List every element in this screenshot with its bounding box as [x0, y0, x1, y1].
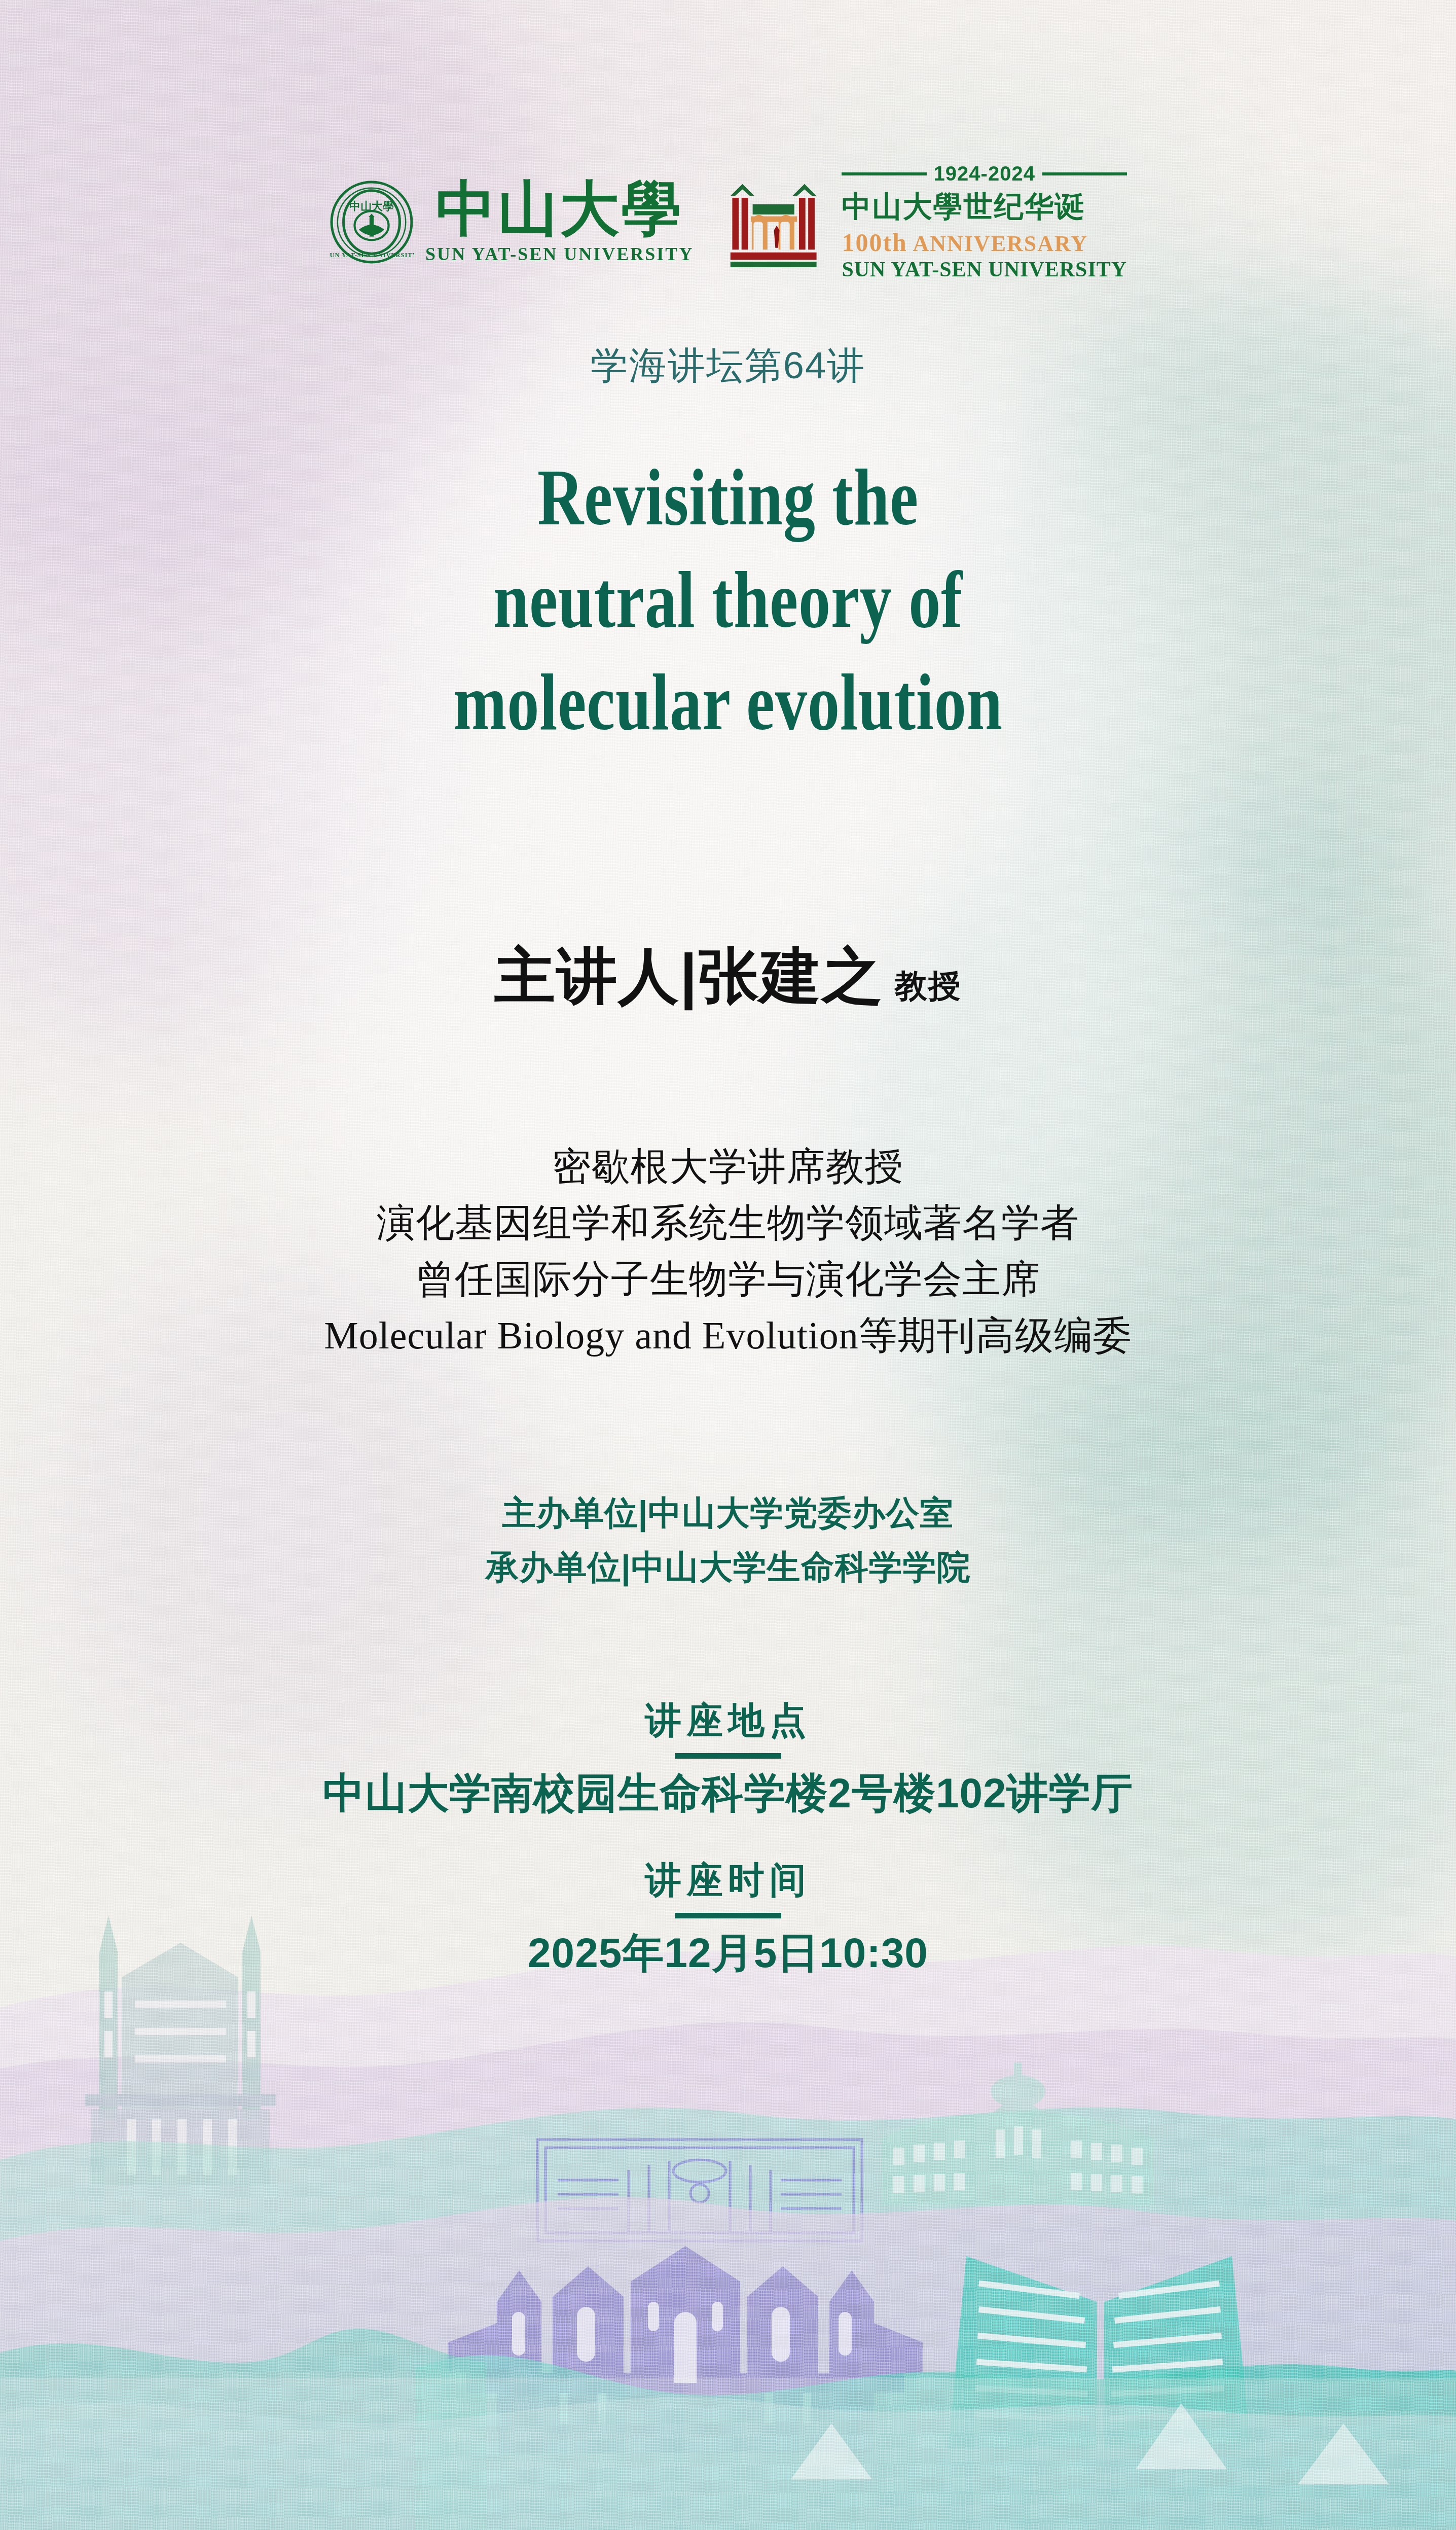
poster-root: 中山大學 SUN YAT-SEN UNIVERSITY 中山大學 SUN YAT… — [0, 0, 1456, 2530]
venue-underline — [675, 1753, 781, 1759]
time-underline — [675, 1913, 781, 1918]
sysu-logo: 中山大學 SUN YAT-SEN UNIVERSITY 中山大學 SUN YAT… — [329, 180, 694, 265]
organizer-block: 主办单位|中山大学党委办公室 承办单位|中山大学生命科学学院 — [0, 1486, 1456, 1594]
series-label: 学海讲坛第64讲 — [0, 341, 1456, 391]
anniversary-logo: 1924-2024 中山大學世纪华诞 100th ANNIVERSARY SUN… — [724, 162, 1127, 281]
venue-block: 讲座地点 中山大学南校园生命科学楼2号楼102讲学厅 — [0, 1696, 1456, 1822]
title-line-3: molecular evolution — [145, 651, 1311, 754]
sysu-seal-icon: 中山大學 SUN YAT-SEN UNIVERSITY — [329, 180, 414, 265]
organizer-host: 主办单位|中山大学党委办公室 — [0, 1486, 1456, 1540]
bio-line: 密歇根大学讲席教授 — [0, 1138, 1456, 1195]
venue-heading: 讲座地点 — [0, 1696, 1456, 1745]
rule-left — [842, 172, 926, 175]
speaker-bio: 密歇根大学讲席教授 演化基因组学和系统生物学领域著名学者 曾任国际分子生物学与演… — [0, 1138, 1456, 1364]
anniversary-100th-line: 100th ANNIVERSARY — [842, 228, 1088, 257]
sysu-chinese-name: 中山大學 — [436, 180, 683, 239]
title-line-1: Revisiting the — [145, 446, 1311, 549]
bio-line: 演化基因组学和系统生物学领域著名学者 — [0, 1195, 1456, 1251]
organizer-cohost: 承办单位|中山大学生命科学学院 — [0, 1540, 1456, 1594]
sysu-english-name: SUN YAT-SEN UNIVERSITY — [425, 243, 694, 265]
anniversary-chinese: 中山大學世纪华诞 — [842, 187, 1085, 227]
bio-line: 曾任国际分子生物学与演化学会主席 — [0, 1251, 1456, 1307]
logo-row: 中山大學 SUN YAT-SEN UNIVERSITY 中山大學 SUN YAT… — [0, 162, 1456, 281]
bio-line: Molecular Biology and Evolution等期刊高级编委 — [0, 1307, 1456, 1364]
venue-value: 中山大学南校园生命科学楼2号楼102讲学厅 — [0, 1766, 1456, 1822]
title-line-2: neutral theory of — [145, 549, 1311, 651]
anniversary-word: ANNIVERSARY — [913, 231, 1088, 256]
speaker-rank: 教授 — [895, 968, 962, 1004]
time-block: 讲座时间 2025年12月5日10:30 — [0, 1856, 1456, 1981]
time-value: 2025年12月5日10:30 — [0, 1926, 1456, 1981]
time-heading: 讲座时间 — [0, 1856, 1456, 1905]
anniversary-years-row: 1924-2024 — [842, 162, 1127, 185]
rule-right — [1042, 172, 1127, 175]
sysu-gate-100-icon — [724, 175, 830, 269]
poster-content: 中山大學 SUN YAT-SEN UNIVERSITY 中山大學 SUN YAT… — [0, 0, 1456, 2530]
anniversary-english: SUN YAT-SEN UNIVERSITY — [842, 257, 1127, 281]
page-title: Revisiting the neutral theory of molecul… — [145, 446, 1311, 754]
sysu-wordmark: 中山大學 SUN YAT-SEN UNIVERSITY — [425, 180, 694, 265]
anniversary-wordmark: 1924-2024 中山大學世纪华诞 100th ANNIVERSARY SUN… — [842, 162, 1127, 281]
anniversary-100th: 100th — [842, 228, 907, 257]
anniversary-years: 1924-2024 — [934, 162, 1035, 185]
svg-text:SUN YAT-SEN UNIVERSITY: SUN YAT-SEN UNIVERSITY — [329, 251, 414, 258]
speaker-line: 主讲人|张建之教授 — [0, 936, 1456, 1018]
speaker-name: 主讲人|张建之 — [494, 942, 884, 1010]
